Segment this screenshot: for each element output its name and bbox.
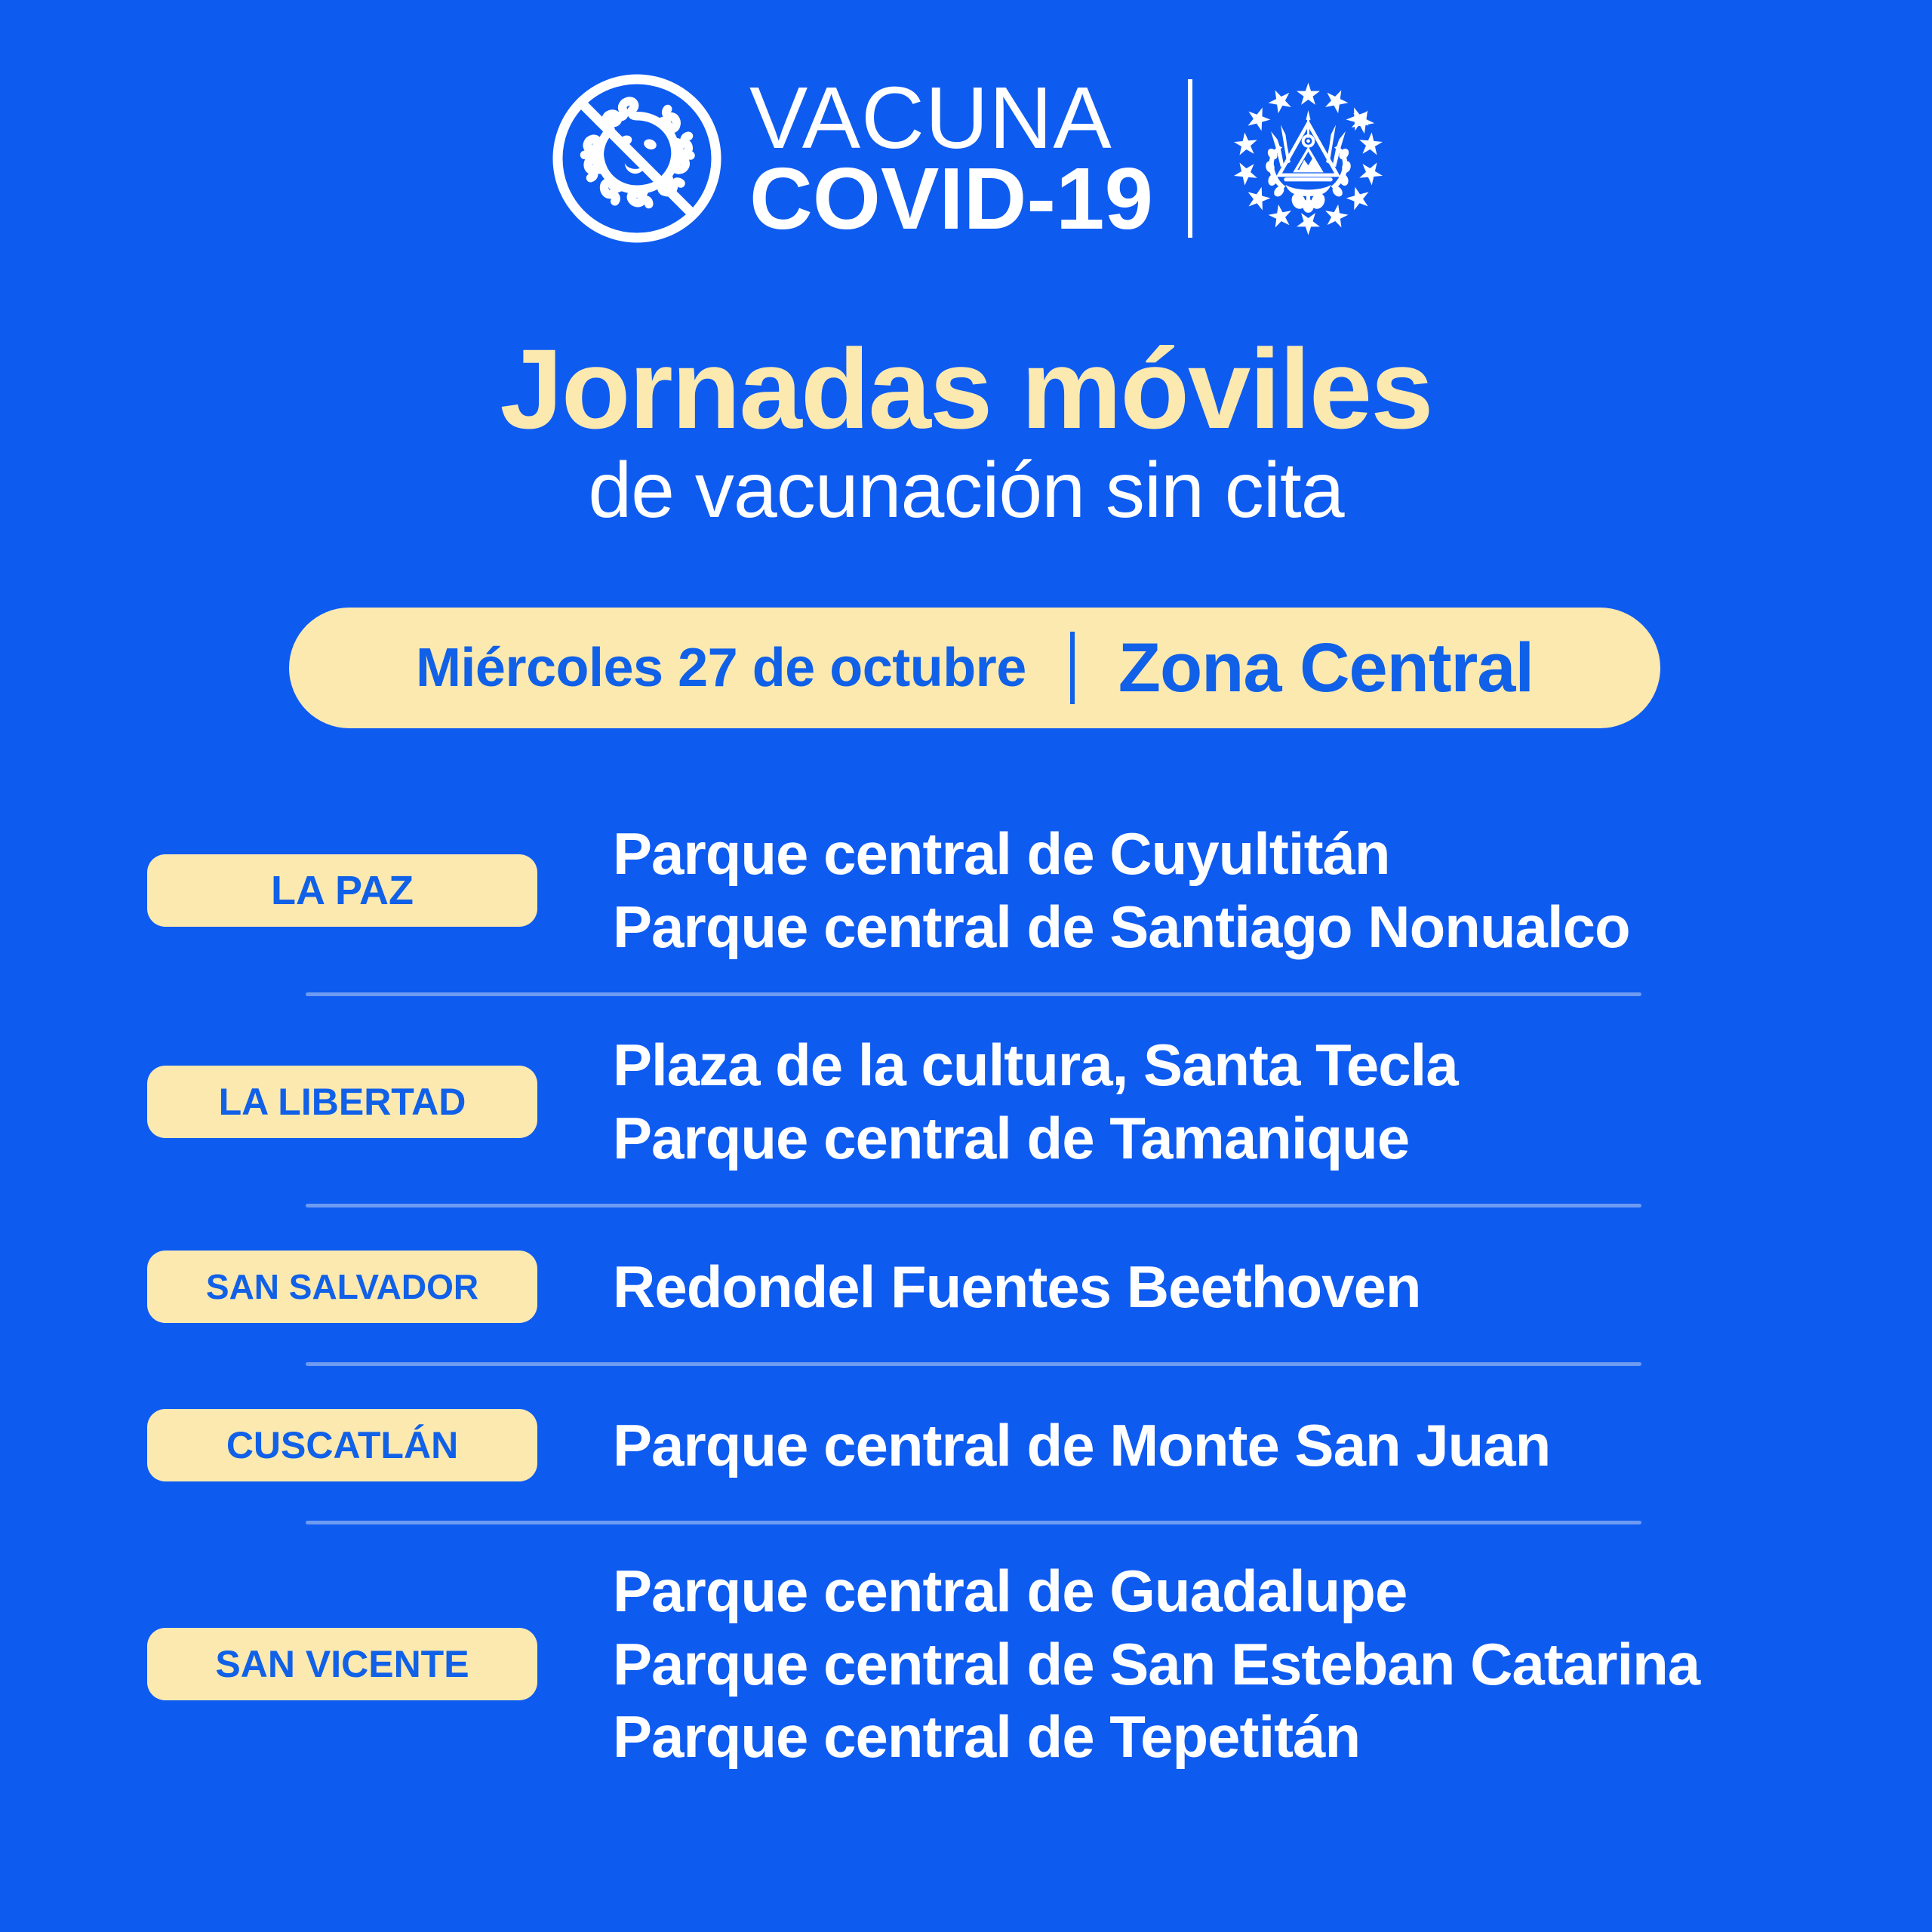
department-badge: CUSCATLÁN [147, 1409, 537, 1481]
logo-divider [1188, 79, 1192, 238]
brand-line-vacuna: VACUNA [749, 78, 1153, 158]
table-row: SAN SALVADOR Redondel Fuentes Beethoven [0, 1207, 1932, 1366]
virus-blocked-icon [543, 64, 731, 253]
banner-divider [1070, 632, 1075, 704]
list-item: Plaza de la cultura, Santa Tecla [613, 1029, 1458, 1102]
el-salvador-coat-of-arms-icon [1227, 78, 1389, 240]
location-list: Parque central de Guadalupe Parque centr… [613, 1555, 1700, 1774]
table-row: SAN VICENTE Parque central de Guadalupe … [0, 1524, 1932, 1804]
department-list: LA PAZ Parque central de Cuyultitán Parq… [0, 785, 1932, 1804]
vaccination-poster: VACUNA COVID-19 [0, 0, 1932, 1932]
department-badge: SAN SALVADOR [147, 1251, 537, 1323]
brand-line-covid: COVID-19 [749, 158, 1153, 239]
date-zone-banner: Miércoles 27 de octubre Zona Central [289, 608, 1660, 728]
department-label: CUSCATLÁN [226, 1423, 458, 1467]
list-item: Parque central de Tepetitán [613, 1700, 1700, 1774]
brand-wordmark: VACUNA COVID-19 [749, 78, 1153, 238]
location-list: Parque central de Monte San Juan [613, 1409, 1550, 1482]
location-list: Redondel Fuentes Beethoven [613, 1251, 1421, 1324]
list-item: Parque central de San Esteban Catarina [613, 1628, 1700, 1701]
list-item: Parque central de Cuyultitán [613, 817, 1630, 891]
list-item: Redondel Fuentes Beethoven [613, 1251, 1421, 1324]
banner-date-label: Miércoles 27 de octubre [416, 637, 1026, 699]
table-row: LA LIBERTAD Plaza de la cultura, Santa T… [0, 996, 1932, 1207]
list-item: Parque central de Guadalupe [613, 1555, 1700, 1628]
department-label: LA PAZ [271, 867, 414, 914]
brand-header: VACUNA COVID-19 [0, 64, 1932, 253]
department-badge: SAN VICENTE [147, 1628, 537, 1700]
table-row: CUSCATLÁN Parque central de Monte San Ju… [0, 1366, 1932, 1524]
location-list: Parque central de Cuyultitán Parque cent… [613, 817, 1630, 963]
department-badge: LA LIBERTAD [147, 1066, 537, 1138]
list-item: Parque central de Monte San Juan [613, 1409, 1550, 1482]
list-item: Parque central de Tamanique [613, 1102, 1458, 1175]
table-row: LA PAZ Parque central de Cuyultitán Parq… [0, 785, 1932, 996]
department-label: LA LIBERTAD [219, 1080, 466, 1124]
banner-zone-label: Zona Central [1118, 629, 1534, 708]
location-list: Plaza de la cultura, Santa Tecla Parque … [613, 1029, 1458, 1174]
department-label: SAN VICENTE [215, 1642, 469, 1686]
department-label: SAN SALVADOR [206, 1266, 478, 1307]
page-subtitle: de vacunación sin cita [0, 451, 1932, 530]
department-badge: LA PAZ [147, 854, 537, 927]
page-title: Jornadas móviles [0, 332, 1932, 445]
list-item: Parque central de Santiago Nonualco [613, 891, 1630, 964]
